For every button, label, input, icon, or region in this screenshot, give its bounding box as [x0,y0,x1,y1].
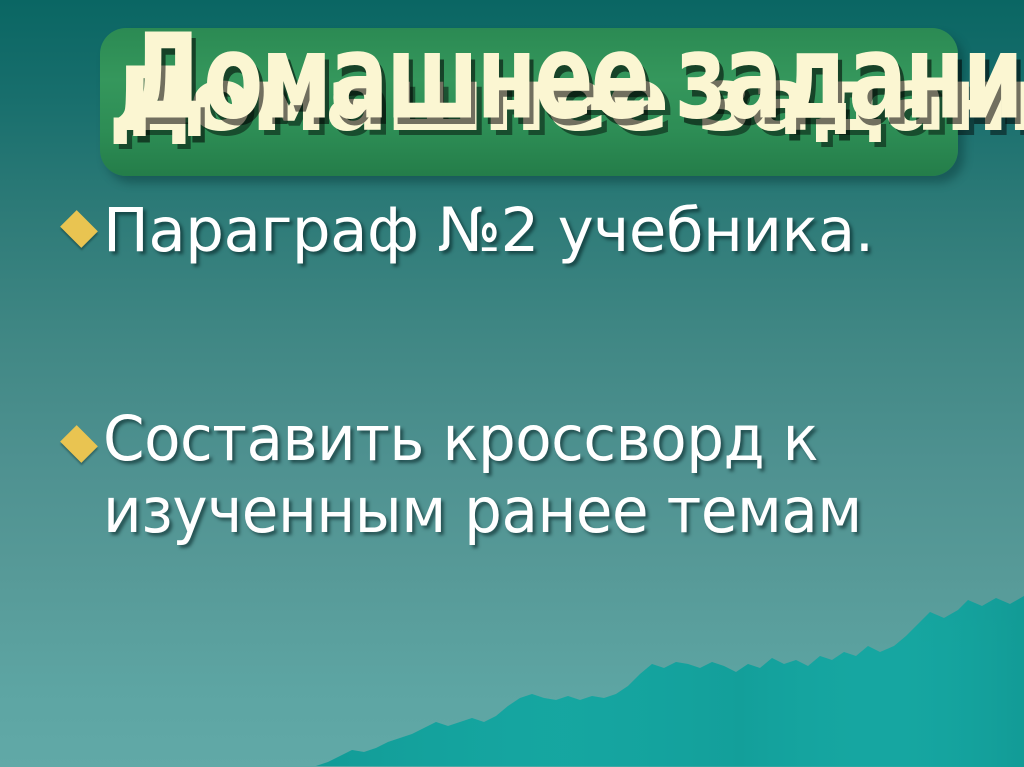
list-item: Составить кроссворд к изученным ранее те… [55,403,995,547]
list-item: Параграф №2 учебника. [55,196,995,267]
list-item-text: Параграф №2 учебника. [103,196,995,267]
bullet-list: Параграф №2 учебника. Составить кроссвор… [55,196,995,547]
diamond-bullet-icon [60,210,98,248]
list-item-text: Составить кроссворд к изученным ранее те… [103,403,959,547]
title-plate [100,28,958,176]
diamond-bullet-icon [60,425,98,463]
presentation-slide: Домашнее задание Домашнее задание Парагр… [0,0,1024,767]
